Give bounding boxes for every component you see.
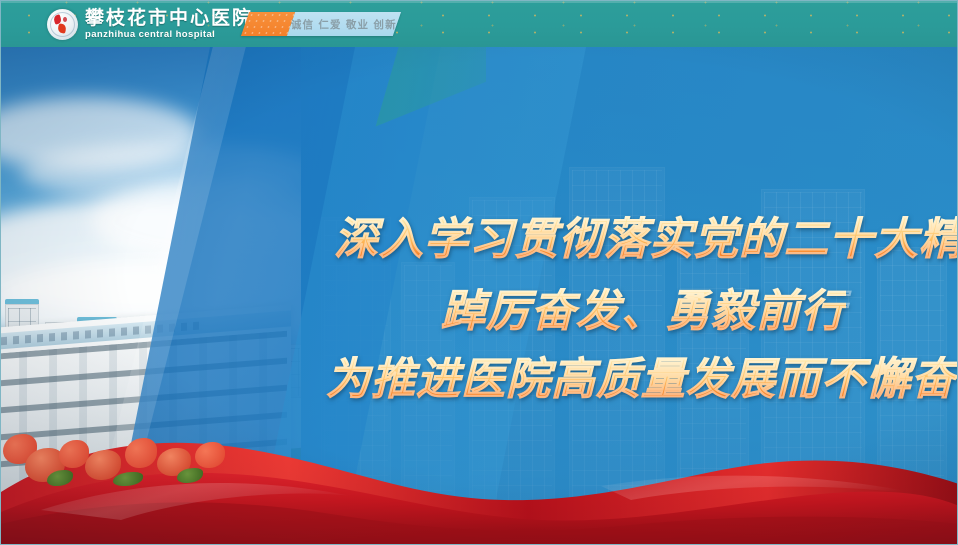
logo-text-block: 攀枝花市中心医院 panzhihua central hospital	[85, 9, 253, 40]
headline-line-2: 踔厉奋发、勇毅前行	[441, 275, 846, 339]
hospital-logo[interactable]: 攀枝花市中心医院 panzhihua central hospital	[47, 6, 253, 42]
badge-accent-block	[241, 12, 295, 36]
leaf	[113, 472, 143, 486]
slogan-badge: 诚信 仁爱 敬业 创新	[241, 12, 401, 36]
badge-panel: 诚信 仁爱 敬业 创新	[287, 12, 401, 36]
emblem-mark-3	[63, 17, 67, 22]
leaf	[177, 468, 203, 483]
headline-line-3: 为推进医院高质量发展而不懈奋斗	[326, 343, 958, 407]
flower	[195, 442, 225, 468]
hero-image: 深入学习贯彻落实党的二十大精神 踔厉奋发、勇毅前行 为推进医院高质量发展而不懈奋…	[1, 47, 958, 544]
leaf	[47, 470, 73, 486]
headline-line-1: 深入学习贯彻落实党的二十大精神	[334, 203, 958, 267]
banner-canvas: 攀枝花市中心医院 panzhihua central hospital 诚信 仁…	[0, 0, 958, 545]
site-header: 攀枝花市中心医院 panzhihua central hospital 诚信 仁…	[1, 1, 958, 47]
hospital-name-cn: 攀枝花市中心医院	[85, 9, 253, 28]
slogan-text: 诚信 仁爱 敬业 创新	[291, 17, 397, 32]
hospital-emblem-icon	[47, 9, 78, 40]
hospital-name-en: panzhihua central hospital	[85, 30, 253, 40]
flower-cluster	[1, 414, 251, 504]
header-top-highlight	[1, 1, 958, 3]
flower	[125, 438, 157, 468]
